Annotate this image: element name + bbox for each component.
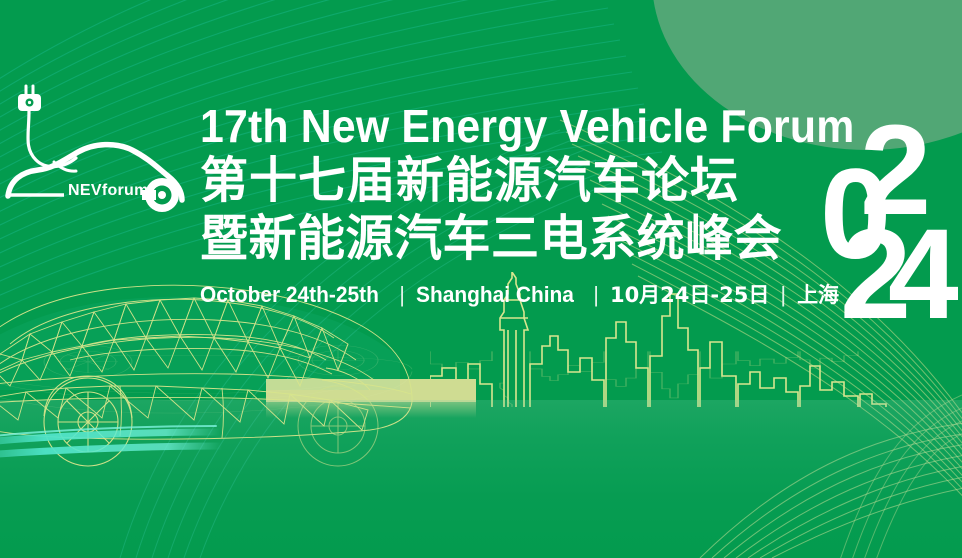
- logo-brand-bold: NEV: [68, 182, 102, 199]
- title-chinese-line-2: 暨新能源汽车三电系统峰会: [200, 210, 827, 268]
- wireframe-car-reflection: [0, 340, 470, 430]
- logo-brand-light: forum: [102, 182, 149, 199]
- event-banner: NEVforum 2 0 2 4 17th New Energy Vehicle…: [0, 0, 962, 558]
- subtitle-separator-3: |: [769, 282, 797, 308]
- title-block: 17th New Energy Vehicle Forum 第十七届新能源汽车论…: [200, 100, 840, 308]
- title-english: 17th New Energy Vehicle Forum: [200, 100, 795, 152]
- shanghai-skyline-reflection: [430, 351, 930, 407]
- subtitle-separator-2: |: [582, 282, 610, 308]
- subtitle-location-cn: 上海: [797, 282, 839, 308]
- subtitle-date-en: October 24th-25th: [200, 282, 379, 308]
- subtitle-location-en: Shanghai China: [416, 282, 574, 308]
- charging-plug-icon: [18, 86, 41, 111]
- title-chinese-line-1: 第十七届新能源汽车论坛: [200, 152, 827, 210]
- subtitle-separator-1: |: [388, 282, 416, 308]
- subtitle-date-cn: 10月24日-25日: [610, 282, 769, 308]
- subtitle-bar: October 24th-25th | Shanghai China | 10月…: [200, 282, 840, 308]
- year-digit-3: 4: [888, 203, 958, 324]
- logo-wordmark: NEVforum: [68, 182, 149, 200]
